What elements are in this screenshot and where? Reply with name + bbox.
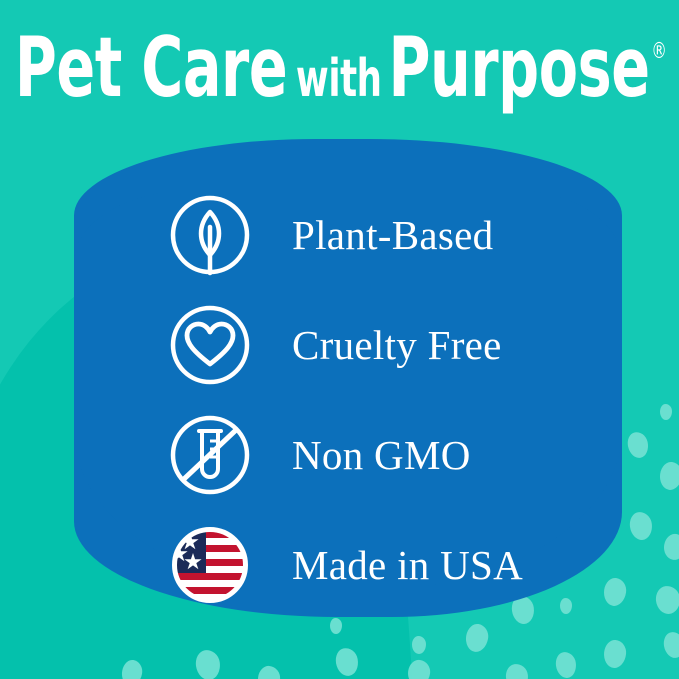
decorative-dot bbox=[194, 648, 222, 679]
feature-row-cruelty-free: Cruelty Free bbox=[168, 290, 588, 400]
registered-trademark-icon: ® bbox=[651, 39, 666, 61]
decorative-dot bbox=[660, 404, 672, 420]
decorative-dot bbox=[464, 622, 491, 653]
feature-row-non-gmo: Non GMO bbox=[168, 400, 588, 510]
title-part-one: Pet Care bbox=[15, 27, 287, 110]
decorative-dot bbox=[628, 511, 654, 542]
decorative-dot bbox=[330, 618, 342, 634]
decorative-dot bbox=[406, 659, 431, 679]
feature-row-made-in-usa: Made in USA bbox=[168, 510, 588, 620]
heart-icon bbox=[168, 303, 252, 387]
decorative-dot bbox=[505, 663, 530, 679]
decorative-dot bbox=[662, 630, 679, 659]
decorative-dot bbox=[554, 651, 577, 679]
feature-list: Plant-Based Cruelty Free bbox=[168, 180, 588, 620]
decorative-dot bbox=[658, 461, 679, 492]
decorative-dot bbox=[626, 430, 651, 460]
decorative-dot bbox=[412, 636, 426, 654]
decorative-dot bbox=[120, 658, 144, 679]
feature-row-plant-based: Plant-Based bbox=[168, 180, 588, 290]
promo-banner: Pet Care with Purpose ® Plant-Based bbox=[0, 0, 679, 679]
decorative-dot bbox=[662, 532, 679, 561]
decorative-dot bbox=[602, 577, 628, 608]
title-connector: with bbox=[296, 52, 382, 104]
no-gmo-icon bbox=[168, 413, 252, 497]
feature-label: Plant-Based bbox=[292, 215, 493, 256]
feature-label: Cruelty Free bbox=[292, 325, 502, 366]
page-title: Pet Care with Purpose ® bbox=[0, 18, 679, 118]
decorative-dot bbox=[257, 665, 282, 679]
title-part-two: Purpose bbox=[388, 27, 649, 110]
decorative-dot bbox=[603, 639, 628, 669]
decorative-dot bbox=[334, 646, 361, 677]
feature-label: Made in USA bbox=[292, 545, 523, 586]
feature-label: Non GMO bbox=[292, 435, 471, 476]
leaf-icon bbox=[168, 193, 252, 277]
usa-flag-icon bbox=[168, 523, 252, 607]
decorative-dot bbox=[655, 585, 679, 615]
